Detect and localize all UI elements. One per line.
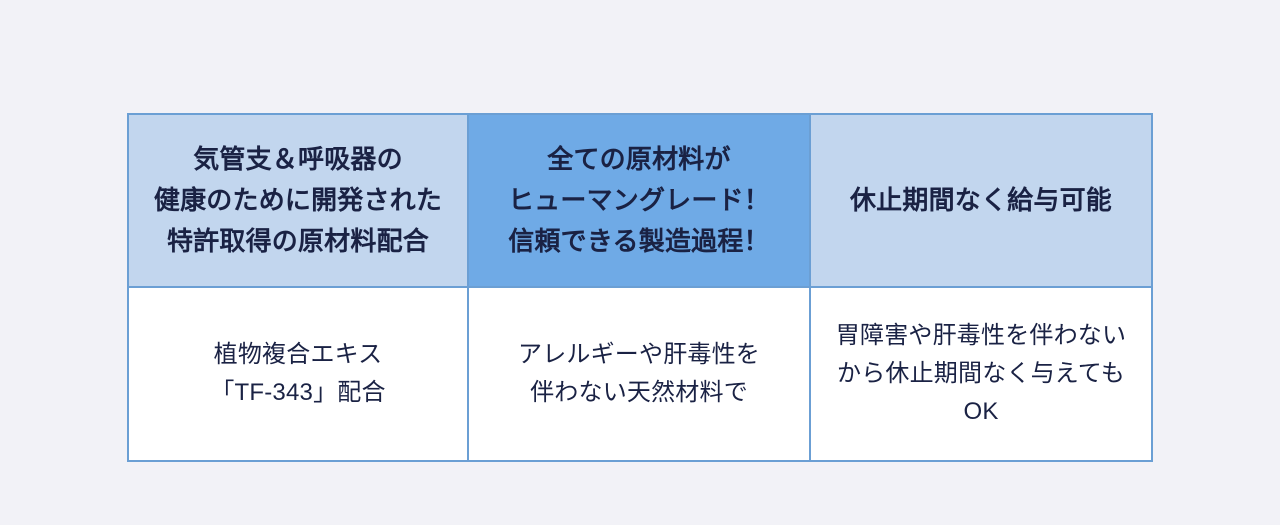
header-cell-column-2: 全ての原材料が ヒューマングレード！ 信頼できる製造過程！ xyxy=(469,115,811,288)
body-cell-column-1-text: 植物複合エキス 「TF-343」配合 xyxy=(210,336,385,412)
table-header-row: 気管支＆呼吸器の 健康のために開発された 特許取得の原材料配合 全ての原材料が … xyxy=(129,115,1151,288)
table-body-row: 植物複合エキス 「TF-343」配合 アレルギーや肝毒性を 伴わない天然材料で … xyxy=(129,288,1151,460)
header-cell-column-1: 気管支＆呼吸器の 健康のために開発された 特許取得の原材料配合 xyxy=(129,115,469,288)
body-cell-column-2-text: アレルギーや肝毒性を 伴わない天然材料で xyxy=(518,336,760,412)
header-cell-column-3: 休止期間なく給与可能 xyxy=(811,115,1151,288)
header-cell-column-3-text: 休止期間なく給与可能 xyxy=(850,180,1112,221)
header-cell-column-2-text: 全ての原材料が ヒューマングレード！ 信頼できる製造過程！ xyxy=(508,139,770,262)
header-cell-column-1-text: 気管支＆呼吸器の 健康のために開発された 特許取得の原材料配合 xyxy=(154,139,442,262)
body-cell-column-3-text: 胃障害や肝毒性を伴わない から休止期間なく与えても OK xyxy=(836,317,1126,431)
body-cell-column-2: アレルギーや肝毒性を 伴わない天然材料で xyxy=(469,288,811,460)
body-cell-column-1: 植物複合エキス 「TF-343」配合 xyxy=(129,288,469,460)
feature-comparison-table: 気管支＆呼吸器の 健康のために開発された 特許取得の原材料配合 全ての原材料が … xyxy=(127,113,1153,462)
body-cell-column-3: 胃障害や肝毒性を伴わない から休止期間なく与えても OK xyxy=(811,288,1151,460)
